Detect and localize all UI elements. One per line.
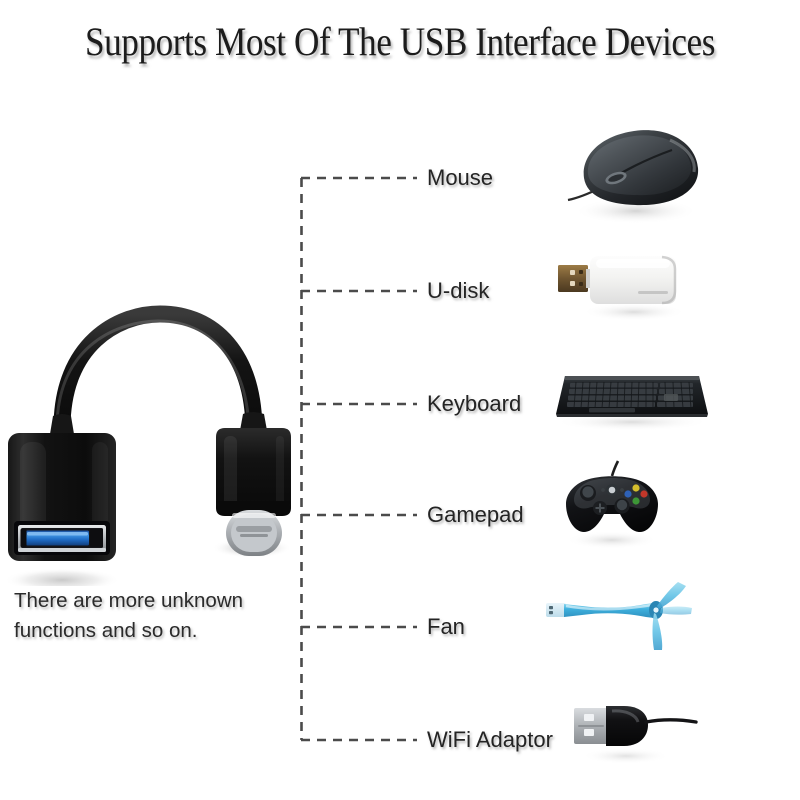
keyboard-front-edge bbox=[556, 414, 708, 417]
keyboard-top-edge bbox=[564, 376, 700, 380]
gamepad-photo bbox=[546, 460, 678, 552]
usb-flexible-fan-photo bbox=[542, 582, 704, 674]
infographic-canvas: Supports Most Of The USB Interface Devic… bbox=[0, 0, 800, 800]
fan-blade-upper bbox=[657, 582, 686, 609]
mouse-photo bbox=[548, 116, 728, 226]
wifi-plug-contact-1 bbox=[584, 714, 594, 721]
fan-hub-center bbox=[653, 607, 658, 612]
gamepad-button-y bbox=[632, 484, 639, 491]
gamepad-guide-ring bbox=[609, 487, 616, 494]
wifi-usb-adaptor-photo bbox=[566, 694, 706, 780]
gamepad-right-stick bbox=[617, 500, 627, 510]
gamepad-cable bbox=[612, 461, 618, 476]
keyboard-photo bbox=[542, 364, 722, 436]
gamepad-shadow bbox=[566, 531, 658, 549]
device-label-keyboard: Keyboard bbox=[427, 391, 521, 417]
udisk-usb-plug bbox=[558, 265, 588, 292]
gamepad-button-b bbox=[640, 490, 647, 497]
gamepad-back-button bbox=[601, 488, 605, 492]
fan-blade-lower bbox=[653, 613, 663, 650]
wifi-adaptor-antenna bbox=[646, 720, 696, 722]
wifi-adaptor-shadow bbox=[582, 748, 670, 764]
keyboard-spacebar bbox=[589, 408, 635, 412]
fan-usb-plug bbox=[546, 603, 566, 617]
udisk-body-top-gloss bbox=[596, 259, 670, 268]
udisk-plug-hole-2 bbox=[579, 282, 583, 286]
udisk-shadow bbox=[582, 303, 686, 321]
udisk-plug-contact-2 bbox=[570, 281, 575, 286]
fan-flexible-neck bbox=[564, 603, 654, 618]
device-label-mouse: Mouse bbox=[427, 165, 493, 191]
fan-plug-contact-2 bbox=[549, 611, 553, 614]
wifi-plug-contact-2 bbox=[584, 729, 594, 736]
gamepad-button-a bbox=[632, 497, 639, 504]
wifi-plug-seam bbox=[578, 725, 604, 727]
fan-plug-contact-1 bbox=[549, 606, 553, 609]
device-label-fan: Fan bbox=[427, 614, 465, 640]
device-label-gamepad: Gamepad bbox=[427, 502, 524, 528]
gamepad-left-stick bbox=[582, 486, 593, 497]
udisk-plug-contact-1 bbox=[570, 270, 575, 275]
device-label-wifi-adaptor: WiFi Adaptor bbox=[427, 727, 553, 753]
usb-flash-drive-photo bbox=[552, 244, 702, 324]
gamepad-start-button bbox=[620, 488, 624, 492]
gamepad-button-x bbox=[624, 490, 631, 497]
udisk-body-seam bbox=[638, 291, 668, 294]
keyboard-numpad-highlight bbox=[664, 394, 678, 401]
device-label-udisk: U-disk bbox=[427, 278, 489, 304]
udisk-plug-hole-1 bbox=[579, 270, 583, 274]
fan-blade-right bbox=[660, 607, 692, 615]
